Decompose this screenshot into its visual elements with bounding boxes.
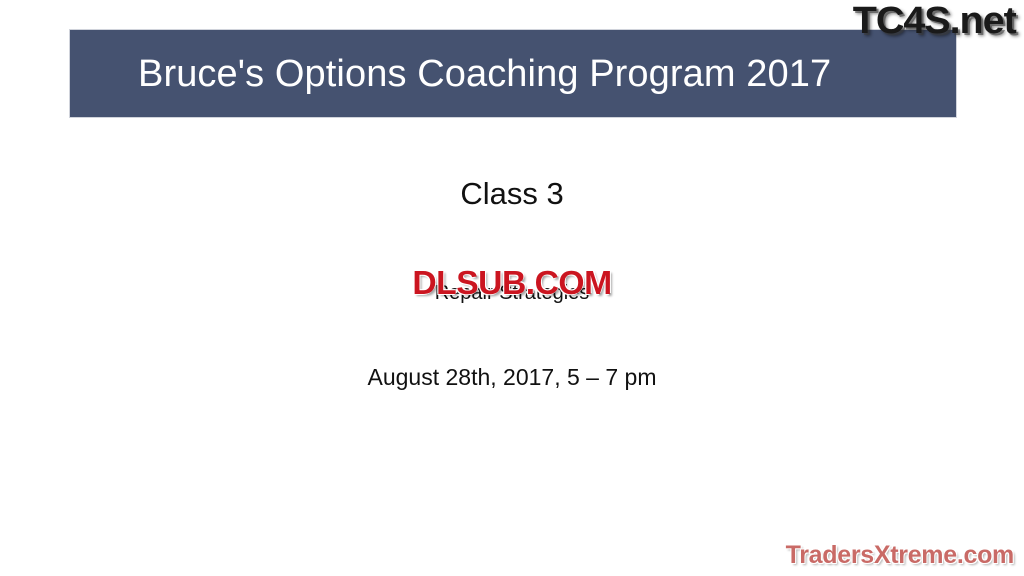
- title-banner: Bruce's Options Coaching Program 2017: [70, 30, 956, 117]
- class-label: Class 3: [0, 178, 1024, 209]
- page-title: Bruce's Options Coaching Program 2017: [138, 55, 831, 93]
- watermark-dlsub: DLSUB.COM: [412, 266, 611, 299]
- session-datetime: August 28th, 2017, 5 – 7 pm: [0, 366, 1024, 389]
- watermark-tc4s: TC4S.net: [853, 2, 1016, 40]
- watermark-tradersxtreme: TradersXtreme.com: [786, 543, 1014, 568]
- presentation-slide: Bruce's Options Coaching Program 2017 Cl…: [0, 0, 1024, 576]
